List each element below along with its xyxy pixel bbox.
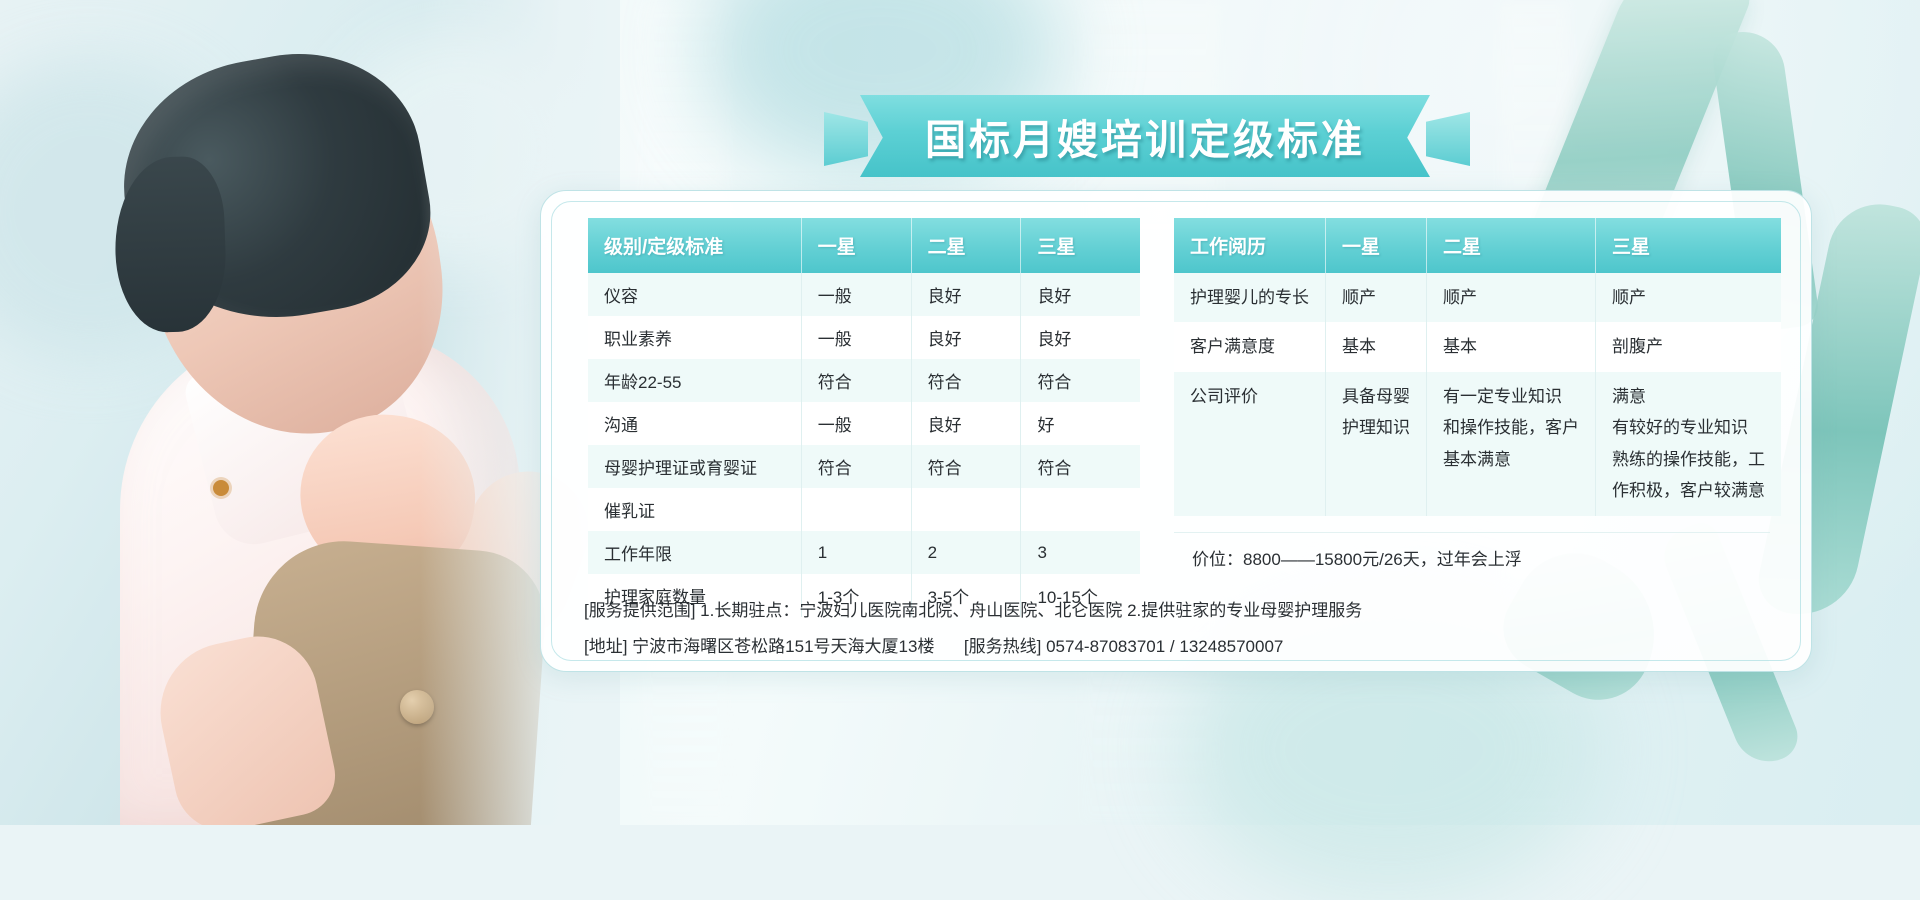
cell-three-star: 符合 xyxy=(1021,445,1140,488)
cell-three-star xyxy=(1021,488,1140,531)
cell-three-star: 符合 xyxy=(1021,359,1140,402)
cell-line: 顺产 xyxy=(1612,282,1765,313)
cell-two-star: 符合 xyxy=(911,359,1021,402)
table-row: 母婴护理证或育婴证 符合 符合 符合 xyxy=(588,445,1140,488)
row-label: 仪容 xyxy=(588,273,801,316)
table-row: 护理婴儿的专长 顺产 顺产 顺产 xyxy=(1174,273,1781,322)
row-label: 工作年限 xyxy=(588,531,801,574)
cell-one-star: 一般 xyxy=(801,402,911,445)
cell-line: 基本 xyxy=(1342,331,1410,362)
cell-one-star: 基本 xyxy=(1326,322,1427,371)
cell-line: 护理知识 xyxy=(1342,412,1410,443)
column-header-three-star: 三星 xyxy=(1596,218,1782,273)
cell-three-star: 好 xyxy=(1021,402,1140,445)
nurse-and-baby-photo xyxy=(0,0,620,825)
cell-line: 基本 xyxy=(1443,331,1579,362)
cell-line: 满意 xyxy=(1612,381,1765,412)
footer-address: [地址] 宁波市海曙区苍松路151号天海大厦13楼 xyxy=(584,637,934,656)
work-experience-table-head: 工作阅历 一星 二星 三星 xyxy=(1174,218,1781,273)
row-label: 母婴护理证或育婴证 xyxy=(588,445,801,488)
footer-contact-line: [地址] 宁波市海曙区苍松路151号天海大厦13楼 [服务热线] 0574-87… xyxy=(584,629,1784,665)
cell-one-star: 顺产 xyxy=(1326,273,1427,322)
cell-two-star: 良好 xyxy=(911,316,1021,359)
row-label: 年龄22-55 xyxy=(588,359,801,402)
title-banner: 国标月嫂培训定级标准 xyxy=(860,95,1430,177)
column-header-criteria: 级别/定级标准 xyxy=(588,218,801,273)
column-header-one-star: 一星 xyxy=(1326,218,1427,273)
cell-line: 熟练的操作技能，工 xyxy=(1612,444,1765,475)
table-row: 催乳证 xyxy=(588,488,1140,531)
footer-service-scope: [服务提供范围] 1.长期驻点：宁波妇儿医院南北院、舟山医院、北仑医院 2.提供… xyxy=(584,593,1784,629)
table-header-row: 级别/定级标准 一星 二星 三星 xyxy=(588,218,1140,273)
cell-line: 作积极，客户较满意 xyxy=(1612,475,1765,506)
work-experience-table-wrapper: 工作阅历 一星 二星 三星 护理婴儿的专长 顺产 顺产 顺产 xyxy=(1174,218,1770,617)
cell-line: 有较好的专业知识 xyxy=(1612,412,1765,443)
cell-three-star: 良好 xyxy=(1021,273,1140,316)
cell-one-star xyxy=(801,488,911,531)
grading-standards-table-head: 级别/定级标准 一星 二星 三星 xyxy=(588,218,1140,273)
row-label: 职业素养 xyxy=(588,316,801,359)
cell-line: 基本满意 xyxy=(1443,444,1579,475)
cell-two-star: 顺产 xyxy=(1427,273,1596,322)
work-experience-table: 工作阅历 一星 二星 三星 护理婴儿的专长 顺产 顺产 顺产 xyxy=(1174,218,1781,516)
table-row: 工作年限 1 2 3 xyxy=(588,531,1140,574)
row-label: 沟通 xyxy=(588,402,801,445)
cell-one-star: 一般 xyxy=(801,273,911,316)
table-row: 沟通 一般 良好 好 xyxy=(588,402,1140,445)
column-header-two-star: 二星 xyxy=(1427,218,1596,273)
grading-standards-table: 级别/定级标准 一星 二星 三星 仪容 一般 良好 良好 职业素养 一般 良好 xyxy=(588,218,1140,617)
cell-line: 剖腹产 xyxy=(1612,331,1765,362)
cell-two-star xyxy=(911,488,1021,531)
cell-two-star: 良好 xyxy=(911,402,1021,445)
page-title: 国标月嫂培训定级标准 xyxy=(925,106,1365,166)
column-header-experience: 工作阅历 xyxy=(1174,218,1326,273)
cell-three-star: 顺产 xyxy=(1596,273,1782,322)
row-label: 公司评价 xyxy=(1174,372,1326,516)
footer-info: [服务提供范围] 1.长期驻点：宁波妇儿医院南北院、舟山医院、北仑医院 2.提供… xyxy=(584,593,1784,664)
cell-two-star: 2 xyxy=(911,531,1021,574)
column-header-two-star: 二星 xyxy=(911,218,1021,273)
cell-one-star: 一般 xyxy=(801,316,911,359)
table-row: 公司评价 具备母婴 护理知识 有一定专业知识 和操作技能，客户 基本满意 满意 … xyxy=(1174,372,1781,516)
table-row: 年龄22-55 符合 符合 符合 xyxy=(588,359,1140,402)
cell-two-star: 符合 xyxy=(911,445,1021,488)
table-row: 仪容 一般 良好 良好 xyxy=(588,273,1140,316)
cell-three-star: 3 xyxy=(1021,531,1140,574)
cell-line: 具备母婴 xyxy=(1342,381,1410,412)
cell-one-star: 1 xyxy=(801,531,911,574)
work-experience-table-body: 护理婴儿的专长 顺产 顺产 顺产 客户满意度 基本 xyxy=(1174,273,1781,516)
cell-three-star: 良好 xyxy=(1021,316,1140,359)
cell-one-star: 具备母婴 护理知识 xyxy=(1326,372,1427,516)
column-header-one-star: 一星 xyxy=(801,218,911,273)
grading-standards-table-wrapper: 级别/定级标准 一星 二星 三星 仪容 一般 良好 良好 职业素养 一般 良好 xyxy=(588,218,1140,617)
cell-one-star: 符合 xyxy=(801,445,911,488)
row-label: 客户满意度 xyxy=(1174,322,1326,371)
cell-two-star: 基本 xyxy=(1427,322,1596,371)
cell-line: 有一定专业知识 xyxy=(1443,381,1579,412)
price-note: 价位：8800——15800元/26天，过年会上浮 xyxy=(1174,532,1770,570)
row-label: 催乳证 xyxy=(588,488,801,531)
footer-hotline: [服务热线] 0574-87083701 / 13248570007 xyxy=(964,637,1283,656)
cell-line: 顺产 xyxy=(1443,282,1579,313)
cell-three-star: 满意 有较好的专业知识 熟练的操作技能，工 作积极，客户较满意 xyxy=(1596,372,1782,516)
table-row: 职业素养 一般 良好 良好 xyxy=(588,316,1140,359)
table-header-row: 工作阅历 一星 二星 三星 xyxy=(1174,218,1781,273)
cell-line: 顺产 xyxy=(1342,282,1410,313)
row-label: 护理婴儿的专长 xyxy=(1174,273,1326,322)
cell-two-star: 有一定专业知识 和操作技能，客户 基本满意 xyxy=(1427,372,1596,516)
table-row: 客户满意度 基本 基本 剖腹产 xyxy=(1174,322,1781,371)
cell-two-star: 良好 xyxy=(911,273,1021,316)
cell-three-star: 剖腹产 xyxy=(1596,322,1782,371)
cell-line: 和操作技能，客户 xyxy=(1443,412,1579,443)
cell-one-star: 符合 xyxy=(801,359,911,402)
grading-standards-table-body: 仪容 一般 良好 良好 职业素养 一般 良好 良好 年龄22-55 符合 符合 … xyxy=(588,273,1140,617)
column-header-three-star: 三星 xyxy=(1021,218,1140,273)
tables-container: 级别/定级标准 一星 二星 三星 仪容 一般 良好 良好 职业素养 一般 良好 xyxy=(588,218,1770,617)
